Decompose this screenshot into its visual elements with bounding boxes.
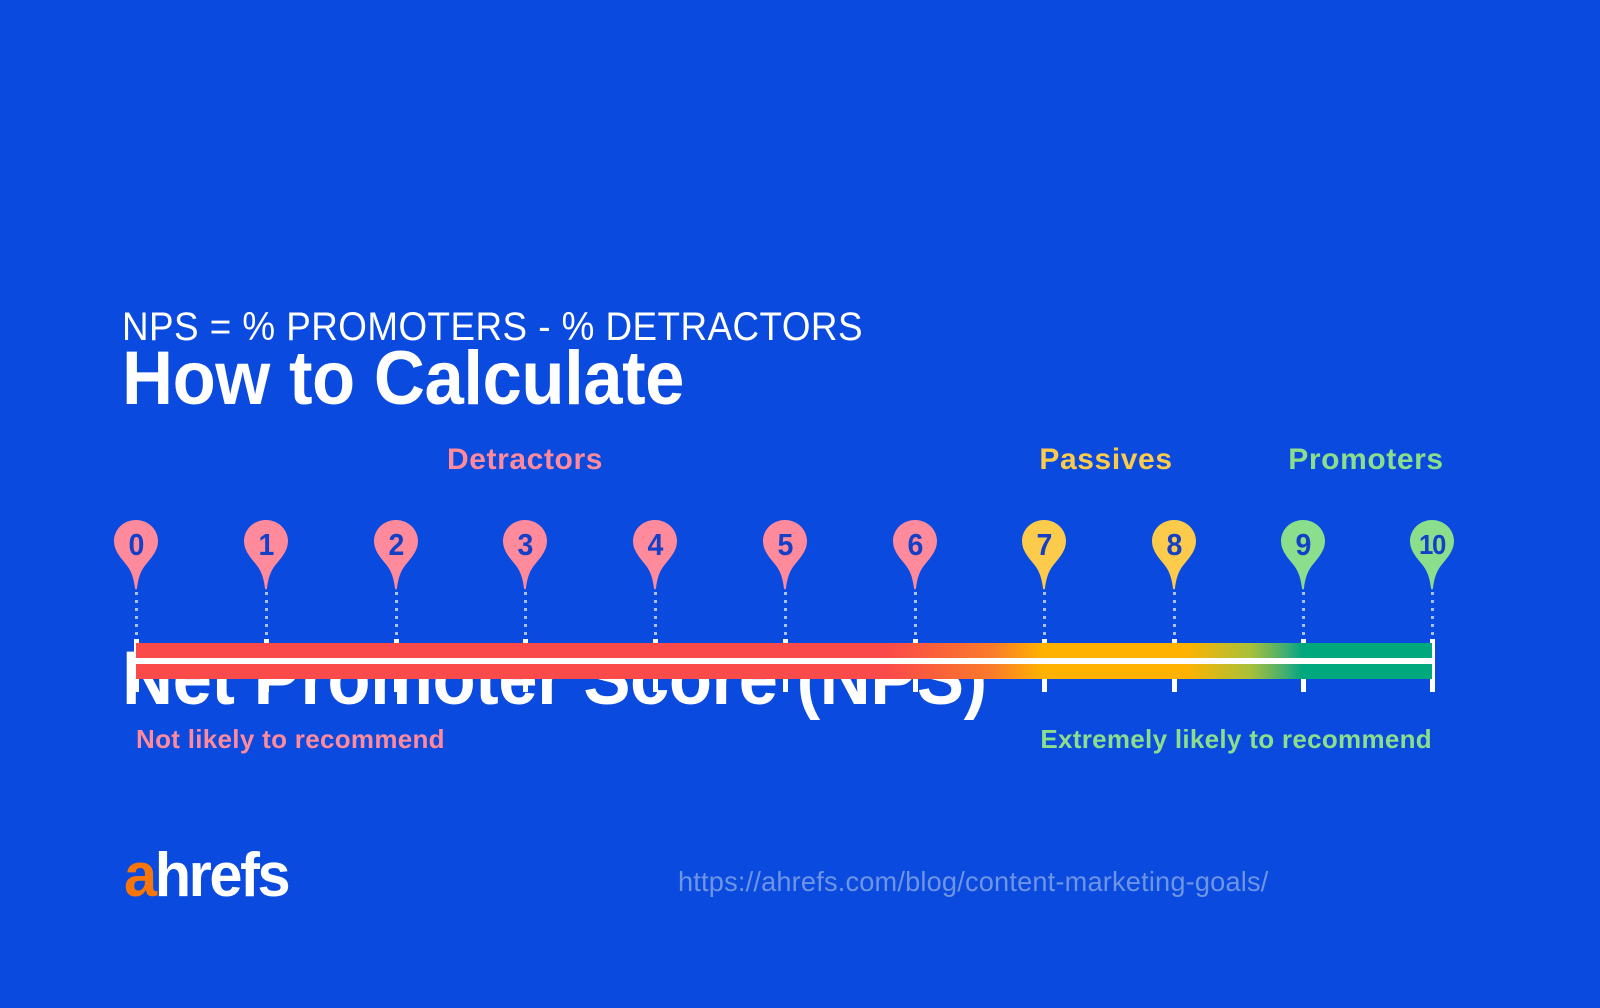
logo-accent-letter: a bbox=[124, 841, 155, 910]
segment-label-detractors: Detractors bbox=[447, 443, 603, 477]
pin-score-value: 8 bbox=[1153, 518, 1195, 572]
score-pin-7[interactable]: 7 bbox=[1021, 518, 1067, 592]
score-pin-9[interactable]: 9 bbox=[1280, 518, 1326, 592]
score-pin-2[interactable]: 2 bbox=[373, 518, 419, 592]
nps-gradient-bar bbox=[136, 643, 1432, 679]
pin-score-value: 9 bbox=[1282, 518, 1324, 572]
segment-label-passives: Passives bbox=[1039, 443, 1172, 477]
score-pin-10[interactable]: 10 bbox=[1409, 518, 1455, 592]
infographic-canvas: How to Calculate Net Promoter Score (NPS… bbox=[0, 0, 1600, 1008]
score-pin-8[interactable]: 8 bbox=[1151, 518, 1197, 592]
score-pin-1[interactable]: 1 bbox=[243, 518, 289, 592]
pin-leader-line bbox=[1431, 592, 1434, 640]
ahrefs-logo[interactable]: ahrefs bbox=[124, 845, 288, 907]
pin-score-value: 2 bbox=[375, 518, 417, 572]
caption-not-likely: Not likely to recommend bbox=[136, 724, 445, 755]
pin-score-value: 6 bbox=[894, 518, 936, 572]
score-pin-3[interactable]: 3 bbox=[502, 518, 548, 592]
pin-score-value: 4 bbox=[634, 518, 676, 572]
score-pin-6[interactable]: 6 bbox=[892, 518, 938, 592]
segment-label-promoters: Promoters bbox=[1288, 443, 1443, 477]
pin-leader-line bbox=[1302, 592, 1305, 640]
source-url[interactable]: https://ahrefs.com/blog/content-marketin… bbox=[678, 866, 1269, 898]
pin-score-value: 7 bbox=[1023, 518, 1065, 572]
score-pin-4[interactable]: 4 bbox=[632, 518, 678, 592]
logo-wordmark: hrefs bbox=[155, 841, 289, 910]
pin-score-value: 10 bbox=[1411, 518, 1453, 572]
score-pin-5[interactable]: 5 bbox=[762, 518, 808, 592]
bar-divider-line bbox=[136, 658, 1432, 664]
pin-score-value: 0 bbox=[115, 518, 157, 572]
pin-score-value: 1 bbox=[245, 518, 287, 572]
caption-extremely-likely: Extremely likely to recommend bbox=[1040, 724, 1432, 755]
nps-formula: NPS = % PROMOTERS - % DETRACTORS bbox=[122, 302, 863, 352]
score-pin-0[interactable]: 0 bbox=[113, 518, 159, 592]
page-title: How to Calculate Net Promoter Score (NPS… bbox=[122, 129, 1238, 929]
pin-score-value: 5 bbox=[764, 518, 806, 572]
pin-score-value: 3 bbox=[504, 518, 546, 572]
